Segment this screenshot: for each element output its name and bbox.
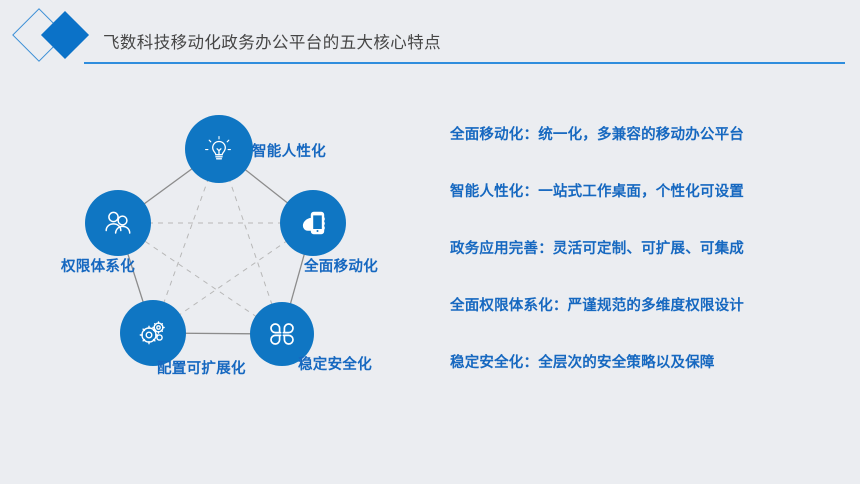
gears-icon [136, 316, 170, 350]
hand-phone-icon [297, 207, 329, 239]
node-label-permission-system: 权限体系化 [61, 255, 135, 276]
slide-header: 飞数科技移动化政务办公平台的五大核心特点 [0, 0, 860, 80]
node-label-intelligent-humanized: 智能人性化 [252, 140, 326, 161]
feature-item: 智能人性化：一站式工作桌面，个性化可设置 [450, 180, 840, 201]
feature-item: 稳定安全化：全层次的安全策略以及保障 [450, 351, 840, 372]
feature-item: 政务应用完善：灵活可定制、可扩展、可集成 [450, 237, 840, 258]
node-full-mobility[interactable] [280, 190, 346, 256]
feature-list: 全面移动化：统一化，多兼容的移动办公平台 智能人性化：一站式工作桌面，个性化可设… [450, 123, 840, 372]
node-label-full-mobility: 全面移动化 [304, 255, 378, 276]
node-intelligent-humanized[interactable] [185, 115, 253, 183]
header-divider [84, 62, 845, 64]
feature-item: 全面权限体系化：严谨规范的多维度权限设计 [450, 294, 840, 315]
node-label-stable-secure: 稳定安全化 [298, 353, 372, 374]
users-icon [101, 206, 135, 240]
clover-icon [266, 318, 298, 350]
node-label-configurable-extensible: 配置可扩展化 [157, 357, 246, 378]
pentagon-diagram: 智能人性化 全面移动化 权限体系化 [40, 95, 440, 405]
node-permission-system[interactable] [85, 190, 151, 256]
page-title: 飞数科技移动化政务办公平台的五大核心特点 [103, 29, 441, 53]
feature-item: 全面移动化：统一化，多兼容的移动办公平台 [450, 123, 840, 144]
lightbulb-icon [202, 132, 236, 166]
